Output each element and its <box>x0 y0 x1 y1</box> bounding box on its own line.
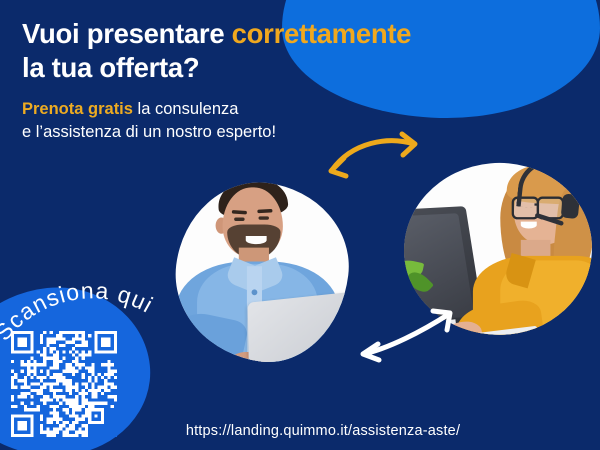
headline-line1-lead: Vuoi presentare <box>22 18 232 49</box>
subheading-line2: e l’assistenza di un nostro esperto! <box>22 123 276 141</box>
gold-double-arrow-icon <box>322 130 426 186</box>
headline-line2: la tua offerta? <box>22 52 199 83</box>
plant-leaf <box>397 278 405 307</box>
subheading-rest-line1: la consulenza <box>133 100 239 118</box>
white-double-arrow-icon <box>355 308 461 366</box>
qr-code[interactable] <box>11 331 117 437</box>
man-smile <box>246 236 267 244</box>
headset-band <box>516 156 594 214</box>
qr-code-image[interactable] <box>11 331 117 437</box>
laptop-lid <box>248 290 358 371</box>
headset-earcup <box>561 193 581 219</box>
headline-accent-word: correttamente <box>232 18 412 49</box>
subheading-accent: Prenota gratis <box>22 100 133 118</box>
man-shirt-button <box>252 289 258 295</box>
promo-banner: Vuoi presentare correttamente la tua off… <box>0 0 600 450</box>
man-eye-left <box>234 217 244 220</box>
landing-url[interactable]: https://landing.quimmo.it/assistenza-ast… <box>0 423 600 439</box>
woman-smile <box>521 222 537 229</box>
man-eye-right <box>259 216 269 219</box>
page-title: Vuoi presentare correttamente la tua off… <box>22 17 562 84</box>
